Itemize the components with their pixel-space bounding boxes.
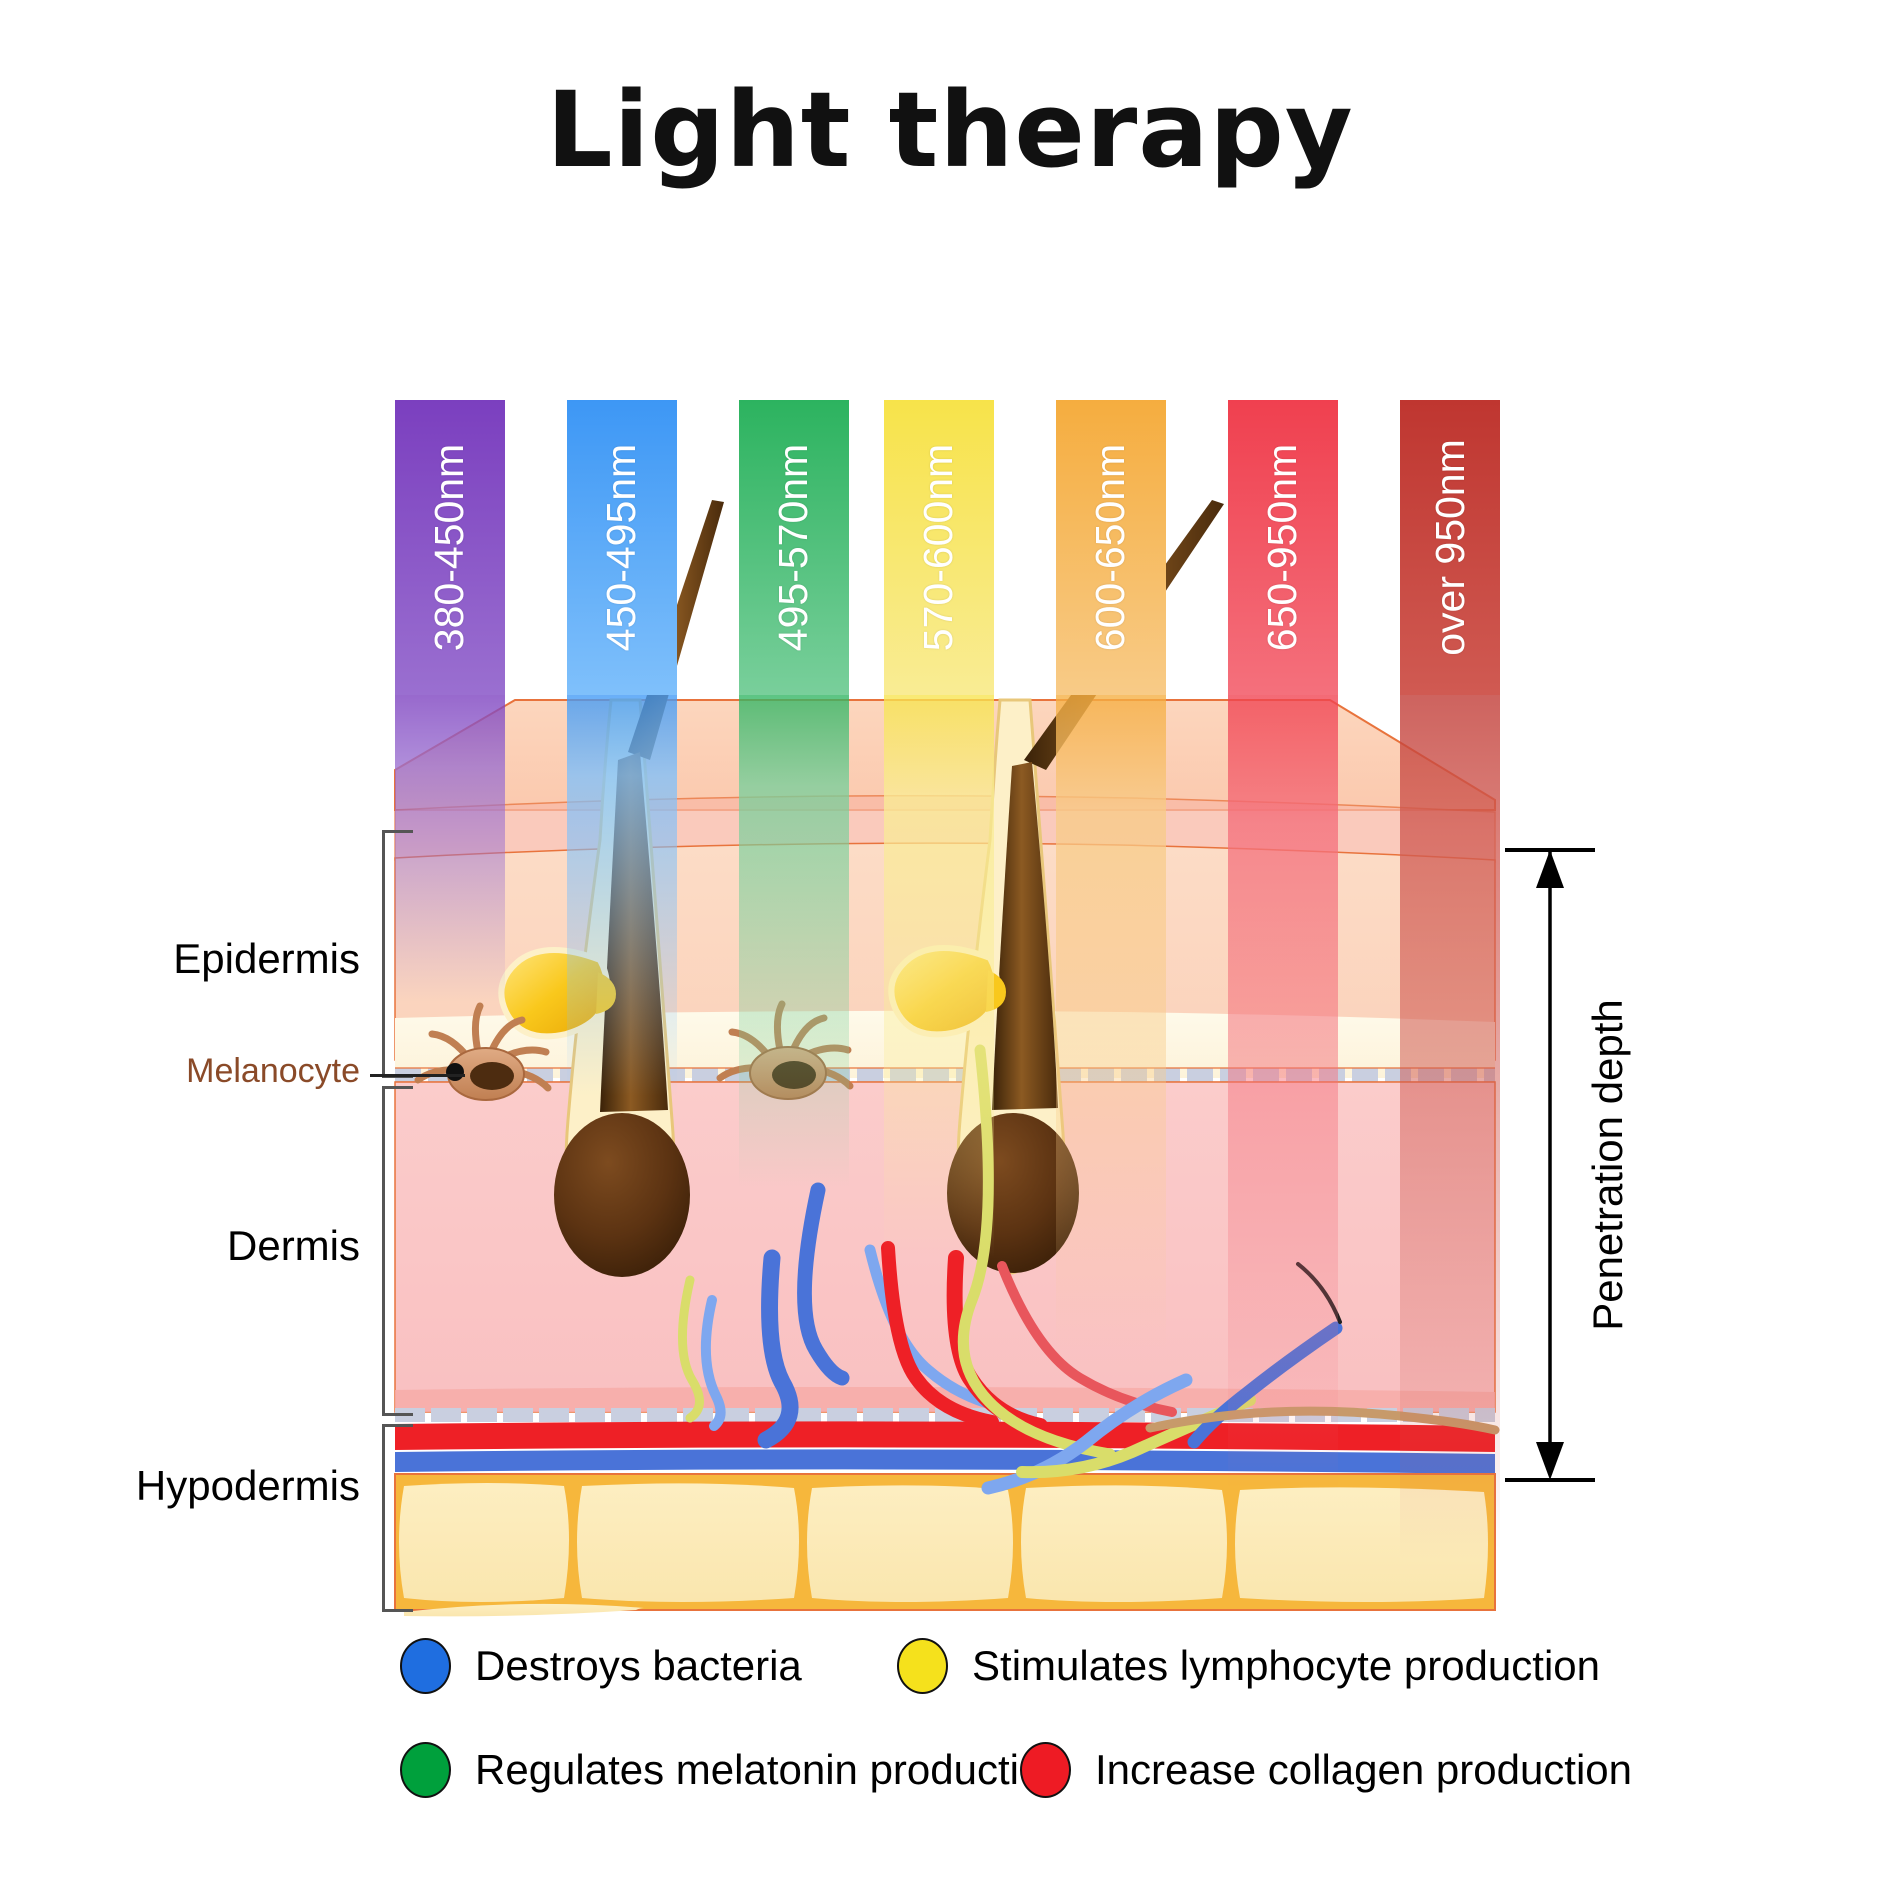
beam-495-570nm[interactable]: 495-570nm (739, 400, 849, 1560)
legend-item-melatonin[interactable]: Regulates melatonin production (400, 1742, 1020, 1798)
penetration-depth-label: Penetration depth (1578, 845, 1638, 1485)
beam-cap: 600-650nm (1056, 400, 1166, 695)
epidermis-bracket (382, 830, 385, 1078)
legend: Destroys bacteria Stimulates lymphocyte … (400, 1638, 1600, 1846)
light-therapy-diagram: Light therapy (0, 0, 1900, 1900)
beam-cap: 495-570nm (739, 400, 849, 695)
beam-cap: 380-450nm (395, 400, 505, 695)
label-epidermis: Epidermis (40, 935, 360, 983)
legend-swatch-blue (400, 1638, 451, 1694)
beam-label: 450-495nm (599, 444, 646, 651)
beam-cap: over 950nm (1400, 400, 1500, 695)
legend-swatch-red (1020, 1742, 1071, 1798)
beam-cap: 570-600nm (884, 400, 994, 695)
beam-label: 495-570nm (771, 444, 818, 651)
legend-item-collagen[interactable]: Increase collagen production (1020, 1742, 1632, 1798)
dermis-bracket (382, 1086, 385, 1416)
legend-label-2: Regulates melatonin production (475, 1746, 1066, 1794)
legend-item-destroys-bacteria[interactable]: Destroys bacteria (400, 1638, 897, 1694)
beam-380-450nm[interactable]: 380-450nm (395, 400, 505, 1560)
beam-650-950nm[interactable]: 650-950nm (1228, 400, 1338, 1560)
legend-row-1: Destroys bacteria Stimulates lymphocyte … (400, 1638, 1600, 1694)
beam-600-650nm[interactable]: 600-650nm (1056, 400, 1166, 1560)
beam-label: 570-600nm (916, 444, 963, 651)
beam-label: 650-950nm (1260, 444, 1307, 651)
hypodermis-bracket (382, 1424, 385, 1612)
beam-label: 380-450nm (427, 444, 474, 651)
label-dermis: Dermis (40, 1222, 360, 1270)
label-hypodermis: Hypodermis (20, 1462, 360, 1510)
legend-label-3: Increase collagen production (1095, 1746, 1632, 1794)
beam-450-495nm[interactable]: 450-495nm (567, 400, 677, 1560)
legend-label-0: Destroys bacteria (475, 1642, 802, 1690)
legend-swatch-green (400, 1742, 451, 1798)
beam-cap: 450-495nm (567, 400, 677, 695)
legend-label-1: Stimulates lymphocyte production (972, 1642, 1600, 1690)
beam-label: 600-650nm (1088, 444, 1135, 651)
beam-cap: 650-950nm (1228, 400, 1338, 695)
beam-570-600nm[interactable]: 570-600nm (884, 400, 994, 1560)
beam-label: over 950nm (1427, 439, 1474, 656)
melanocyte-leader-line (370, 1074, 465, 1077)
legend-item-lymphocyte[interactable]: Stimulates lymphocyte production (897, 1638, 1600, 1694)
legend-swatch-yellow (897, 1638, 948, 1694)
label-melanocyte: Melanocyte (40, 1052, 360, 1091)
penetration-depth-wrap: Penetration depth (1500, 845, 1680, 1485)
legend-row-2: Regulates melatonin production Increase … (400, 1742, 1600, 1798)
